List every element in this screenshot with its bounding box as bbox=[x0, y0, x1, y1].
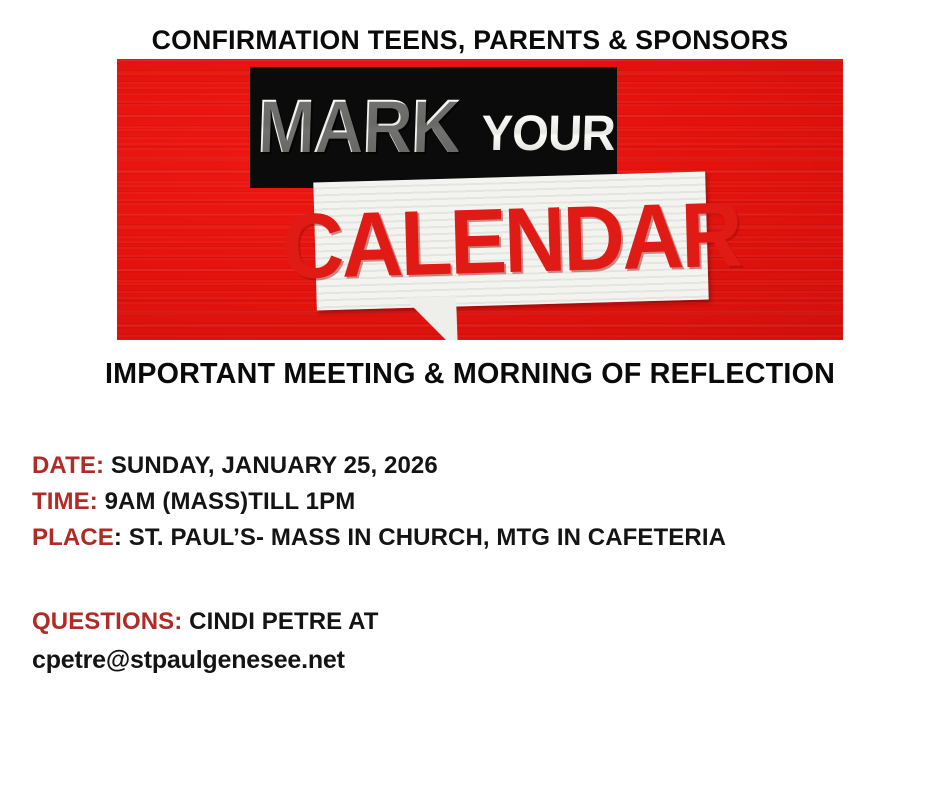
mark-your-calendar-banner-image: MARK YOUR CALENDAR bbox=[117, 59, 843, 340]
detail-colon-place: : bbox=[114, 524, 122, 551]
questions-label: QUESTIONS bbox=[32, 608, 174, 635]
detail-row-time: TIME: 9AM (MASS)TILL 1PM bbox=[32, 484, 912, 520]
banner-word-calendar: CALENDAR bbox=[281, 193, 741, 289]
banner-word-your: YOUR bbox=[481, 112, 616, 155]
detail-row-place: PLACE: ST. PAUL’S- MASS IN CHURCH, MTG I… bbox=[32, 520, 912, 556]
detail-row-date: DATE: SUNDAY, JANUARY 25, 2026 bbox=[32, 448, 912, 484]
detail-label-place: PLACE bbox=[32, 524, 114, 551]
page-subtitle: IMPORTANT MEETING & MORNING OF REFLECTIO… bbox=[5, 358, 936, 391]
detail-label-time: TIME bbox=[32, 488, 90, 515]
questions-row: QUESTIONS: CINDI PETRE AT bbox=[32, 604, 912, 640]
detail-value-date: SUNDAY, JANUARY 25, 2026 bbox=[111, 452, 438, 479]
page-title: CONFIRMATION TEENS, PARENTS & SPONSORS bbox=[7, 25, 933, 56]
contact-email[interactable]: cpetre@stpaulgenesee.net bbox=[32, 640, 912, 680]
banner-mark-your-text: MARK YOUR bbox=[250, 67, 617, 188]
banner-word-mark: MARK bbox=[256, 95, 460, 160]
flyer-canvas: CONFIRMATION TEENS, PARENTS & SPONSORS M… bbox=[0, 0, 940, 788]
detail-colon-time: : bbox=[90, 488, 98, 515]
detail-value-time: 9AM (MASS)TILL 1PM bbox=[105, 488, 356, 515]
questions-colon: : bbox=[174, 608, 182, 635]
detail-label-date: DATE bbox=[32, 452, 96, 479]
banner-calendar-text: CALENDAR bbox=[313, 172, 708, 311]
questions-contact-name: CINDI PETRE AT bbox=[189, 608, 378, 635]
event-details-block: DATE: SUNDAY, JANUARY 25, 2026 TIME: 9AM… bbox=[32, 448, 912, 556]
detail-value-place: ST. PAUL’S- MASS IN CHURCH, MTG IN CAFET… bbox=[129, 524, 726, 551]
detail-colon-date: : bbox=[96, 452, 104, 479]
questions-block: QUESTIONS: CINDI PETRE AT cpetre@stpaulg… bbox=[32, 604, 912, 680]
